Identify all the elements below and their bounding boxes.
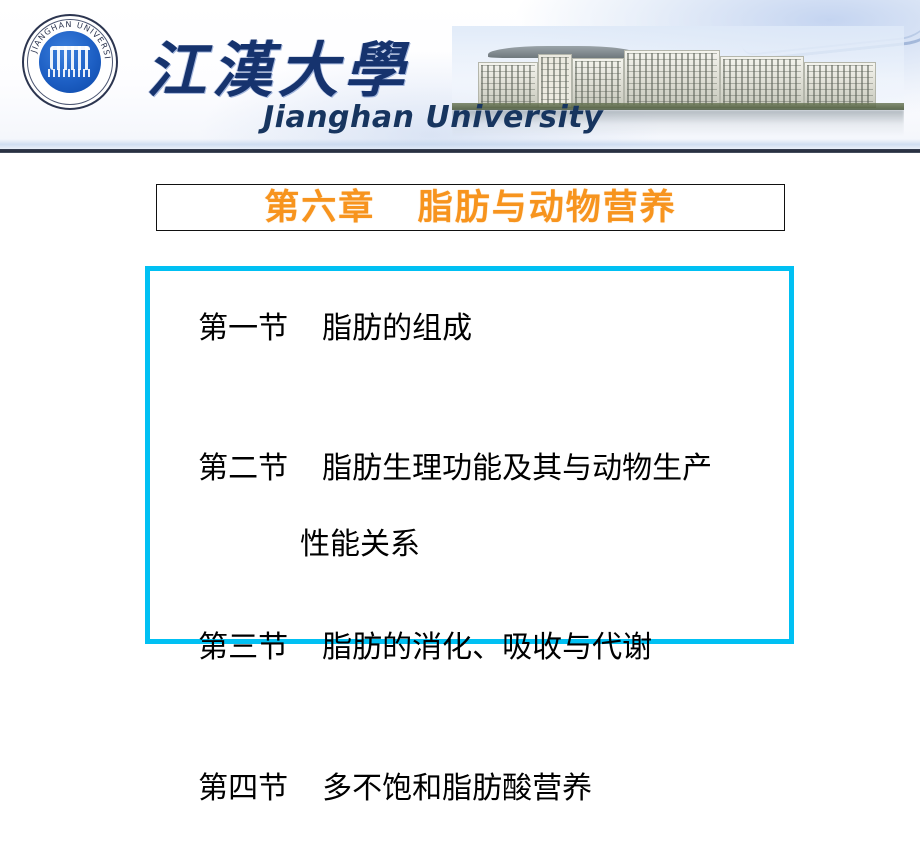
header-divider-rule	[0, 149, 920, 153]
list-item[interactable]: 第一节脂肪的组成	[160, 272, 790, 387]
section-label: 第三节	[198, 630, 288, 665]
section-text: 多不饱和脂肪酸营养	[322, 771, 592, 806]
section-label: 第一节	[198, 311, 288, 346]
list-item[interactable]: 第二节脂肪生理功能及其与动物生产	[160, 411, 790, 526]
campus-building-6	[804, 62, 876, 108]
header-light-band	[0, 139, 920, 149]
section-text-line2: 性能关系	[160, 526, 790, 564]
university-seal-icon: JIANGHAN UNIVERSITY 江 汉 大 学	[22, 14, 118, 110]
en-wordmark: Jianghan University	[263, 100, 603, 135]
list-item[interactable]: 第三节脂肪的消化、吸收与代谢	[160, 591, 790, 706]
contents-list: 第一节脂肪的组成 第二节脂肪生理功能及其与动物生产 性能关系 第三节脂肪的消化、…	[160, 272, 790, 847]
header-banner: JIANGHAN UNIVERSITY 江 汉 大 学 江漢大學 Jiangha…	[0, 0, 920, 153]
chapter-title: 第六章 脂肪与动物营养	[156, 182, 785, 234]
spacer	[160, 565, 790, 591]
section-text: 脂肪的消化、吸收与代谢	[322, 630, 652, 665]
seal-base-glyph-icon	[48, 69, 92, 77]
campus-building-5	[720, 56, 804, 108]
list-item[interactable]: 第四节多不饱和脂肪酸营养	[160, 732, 790, 847]
campus-building-4	[624, 50, 720, 108]
section-text: 脂肪的组成	[322, 311, 472, 346]
section-text: 脂肪生理功能及其与动物生产	[322, 451, 712, 486]
seal-gate-glyph-icon	[50, 46, 90, 70]
section-label: 第二节	[198, 451, 288, 486]
spacer	[160, 706, 790, 732]
section-label: 第四节	[198, 771, 288, 806]
seal-blue-disc	[39, 31, 101, 93]
spacer	[160, 387, 790, 411]
cn-wordmark: 江漢大學	[146, 22, 410, 109]
